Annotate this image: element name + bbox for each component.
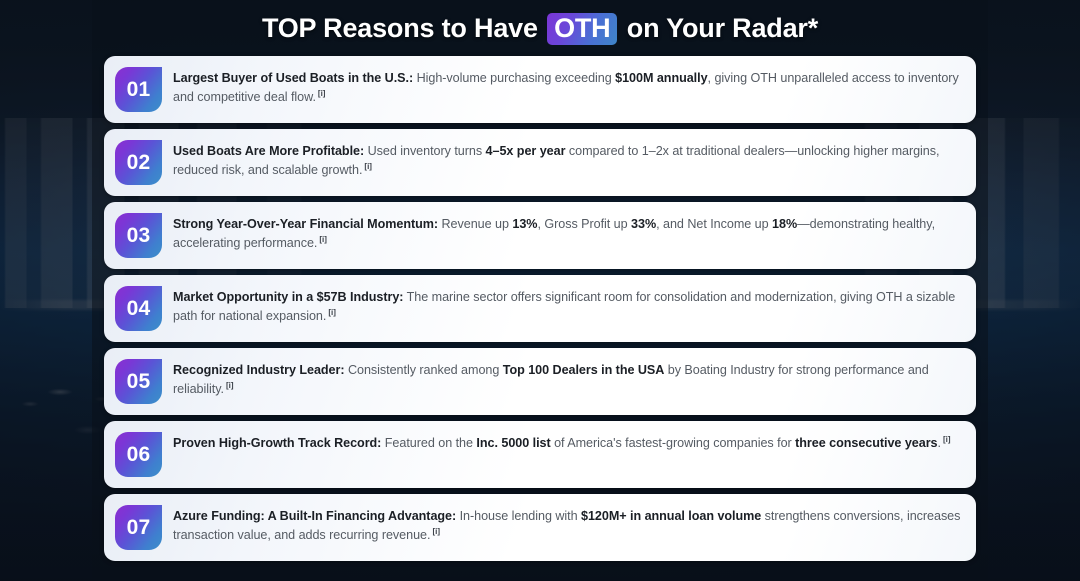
reason-highlight: $120M+ in annual loan volume: [581, 509, 761, 523]
reason-highlight: 13%: [512, 217, 537, 231]
reason-body-text: In-house lending with: [456, 509, 581, 523]
reasons-card-list: 01Largest Buyer of Used Boats in the U.S…: [0, 56, 1080, 561]
reason-title: Proven High-Growth Track Record:: [173, 436, 381, 450]
slide-stage: TOP Reasons to Have OTH on Your Radar* 0…: [0, 0, 1080, 581]
reason-card[interactable]: 04Market Opportunity in a $57B Industry:…: [104, 275, 976, 342]
reason-card[interactable]: 07Azure Funding: A Built-In Financing Ad…: [104, 494, 976, 561]
reason-card[interactable]: 03Strong Year-Over-Year Financial Moment…: [104, 202, 976, 269]
reason-body-text: High-volume purchasing exceeding: [413, 71, 615, 85]
reason-highlight: 4–5x per year: [486, 144, 566, 158]
citation-marker[interactable]: [i]: [319, 235, 327, 244]
reason-highlight: 18%: [772, 217, 797, 231]
reason-title: Recognized Industry Leader:: [173, 363, 345, 377]
reason-body-text: Consistently ranked among: [345, 363, 503, 377]
reason-text: Azure Funding: A Built-In Financing Adva…: [173, 505, 962, 545]
reason-card[interactable]: 01Largest Buyer of Used Boats in the U.S…: [104, 56, 976, 123]
reason-text: Largest Buyer of Used Boats in the U.S.:…: [173, 67, 962, 107]
citation-marker[interactable]: [i]: [328, 308, 336, 317]
reason-number-badge: 03: [115, 213, 162, 258]
reason-body-text: of America's fastest-growing companies f…: [551, 436, 796, 450]
reason-number-badge: 04: [115, 286, 162, 331]
reason-body-text: Featured on the: [381, 436, 476, 450]
reason-highlight: Top 100 Dealers in the USA: [503, 363, 665, 377]
citation-marker[interactable]: [i]: [226, 381, 234, 390]
reason-text: Proven High-Growth Track Record: Feature…: [173, 432, 962, 453]
reason-title: Azure Funding: A Built-In Financing Adva…: [173, 509, 456, 523]
reason-body-text: Revenue up: [438, 217, 512, 231]
reason-card[interactable]: 06Proven High-Growth Track Record: Featu…: [104, 421, 976, 488]
reason-title: Largest Buyer of Used Boats in the U.S.:: [173, 71, 413, 85]
reason-body-text: , Gross Profit up: [537, 217, 631, 231]
citation-marker[interactable]: [i]: [318, 89, 326, 98]
reason-text: Strong Year-Over-Year Financial Momentum…: [173, 213, 962, 253]
page-title-prefix: TOP Reasons to Have: [262, 13, 545, 43]
page-title: TOP Reasons to Have OTH on Your Radar*: [0, 0, 1080, 45]
reason-text: Recognized Industry Leader: Consistently…: [173, 359, 962, 399]
reason-text: Market Opportunity in a $57B Industry: T…: [173, 286, 962, 326]
reason-highlight: $100M annually: [615, 71, 707, 85]
reason-body-text: Used inventory turns: [364, 144, 485, 158]
reason-number-badge: 06: [115, 432, 162, 477]
reason-body-text: .: [938, 436, 941, 450]
reason-text: Used Boats Are More Profitable: Used inv…: [173, 140, 962, 180]
reason-title: Market Opportunity in a $57B Industry:: [173, 290, 403, 304]
reason-highlight: three consecutive years: [795, 436, 937, 450]
reason-body-text: , and Net Income up: [656, 217, 772, 231]
reason-number-badge: 01: [115, 67, 162, 112]
reason-highlight: Inc. 5000 list: [476, 436, 550, 450]
citation-marker[interactable]: [i]: [432, 527, 440, 536]
reason-card[interactable]: 05Recognized Industry Leader: Consistent…: [104, 348, 976, 415]
page-title-suffix: on Your Radar*: [619, 13, 818, 43]
reason-number-badge: 07: [115, 505, 162, 550]
reason-highlight: 33%: [631, 217, 656, 231]
citation-marker[interactable]: [i]: [943, 435, 951, 444]
oth-brand-chip: OTH: [547, 13, 617, 45]
reason-number-badge: 05: [115, 359, 162, 404]
citation-marker[interactable]: [i]: [364, 162, 372, 171]
reason-title: Strong Year-Over-Year Financial Momentum…: [173, 217, 438, 231]
slide-content: TOP Reasons to Have OTH on Your Radar* 0…: [0, 0, 1080, 581]
reason-title: Used Boats Are More Profitable:: [173, 144, 364, 158]
reason-card[interactable]: 02Used Boats Are More Profitable: Used i…: [104, 129, 976, 196]
reason-number-badge: 02: [115, 140, 162, 185]
